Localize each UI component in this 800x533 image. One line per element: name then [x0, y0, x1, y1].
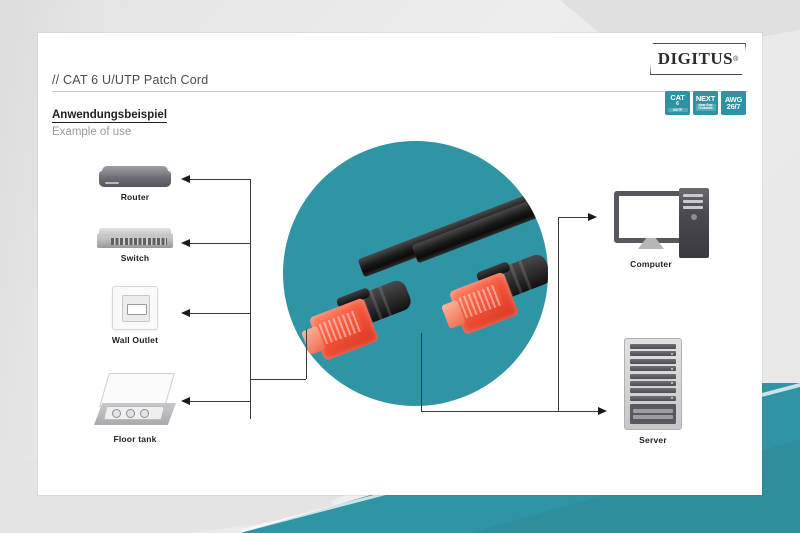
page-title: // CAT 6 U/UTP Patch Cord	[52, 73, 748, 91]
rj45-connector-left	[302, 269, 432, 359]
section-heading-de: Anwendungsbeispiel	[52, 109, 167, 123]
device-label-switch: Switch	[88, 253, 182, 263]
device-label-floor-tank: Floor tank	[86, 434, 184, 444]
cat6-badge-line1: CAT	[670, 94, 684, 102]
device-switch[interactable]: Switch	[88, 233, 182, 263]
switch-icon	[97, 233, 173, 248]
pc-tower-icon	[679, 188, 709, 258]
device-label-computer: Computer	[596, 259, 706, 269]
device-server[interactable]: Server	[608, 338, 698, 445]
arrow-to-wall-outlet	[181, 309, 190, 317]
right-bus-vertical	[558, 217, 559, 411]
server-icon	[624, 338, 682, 430]
arrow-to-router	[181, 175, 190, 183]
next-badge: NEXT Near End Crosstalk	[693, 91, 718, 115]
left-bus-vertical	[250, 179, 251, 419]
device-label-wall-outlet: Wall Outlet	[88, 335, 182, 345]
right-plug-drop	[421, 333, 422, 411]
arrow-to-switch	[181, 239, 190, 247]
left-line-wall-outlet	[190, 313, 250, 314]
device-wall-outlet[interactable]: Wall Outlet	[88, 286, 182, 345]
device-label-router: Router	[90, 192, 180, 202]
spec-badge-group: CAT 6 U/UTP NEXT Near End Crosstalk AWG …	[665, 91, 746, 115]
logo-text: DIGITUS	[658, 49, 733, 69]
left-line-router	[190, 179, 250, 180]
title-divider	[52, 91, 748, 92]
cat6-badge-line3: U/UTP	[668, 108, 688, 112]
router-icon	[99, 171, 171, 187]
right-line-computer	[558, 217, 588, 218]
device-computer[interactable]: Computer	[596, 191, 706, 269]
cat6-badge: CAT 6 U/UTP	[665, 91, 690, 115]
awg-badge: AWG 26/7	[721, 91, 746, 115]
device-router[interactable]: Router	[90, 171, 180, 202]
left-plug-drop	[306, 329, 307, 379]
application-diagram: Router Switch Wall Outlet Floor tan	[38, 133, 762, 495]
device-floor-tank[interactable]: Floor tank	[86, 373, 184, 444]
right-line-server	[558, 411, 598, 412]
left-line-floor-tank	[190, 401, 250, 402]
rj45-connector-right	[442, 243, 548, 333]
product-photo-circle	[283, 141, 548, 406]
brand-logo: DIGITUS®	[650, 43, 746, 75]
datasheet-card: DIGITUS® // CAT 6 U/UTP Patch Cord CAT 6…	[38, 33, 762, 495]
wall-outlet-icon	[112, 286, 158, 330]
logo-frame: DIGITUS®	[650, 43, 746, 75]
floor-tank-icon	[92, 373, 178, 429]
computer-icon	[614, 191, 688, 243]
cat6-badge-line2: 6	[676, 102, 679, 107]
left-plug-run	[250, 379, 306, 380]
next-badge-line3: Near End Crosstalk	[696, 104, 716, 111]
left-line-switch	[190, 243, 250, 244]
next-badge-line1: NEXT	[696, 95, 715, 103]
right-plug-run	[421, 411, 558, 412]
arrow-to-floor-tank	[181, 397, 190, 405]
document-title-row: // CAT 6 U/UTP Patch Cord	[52, 73, 748, 92]
arrow-to-computer	[588, 213, 597, 221]
awg-badge-line2: 26/7	[727, 103, 741, 111]
arrow-to-server	[598, 407, 607, 415]
device-label-server: Server	[608, 435, 698, 445]
registered-mark-icon: ®	[733, 56, 738, 63]
